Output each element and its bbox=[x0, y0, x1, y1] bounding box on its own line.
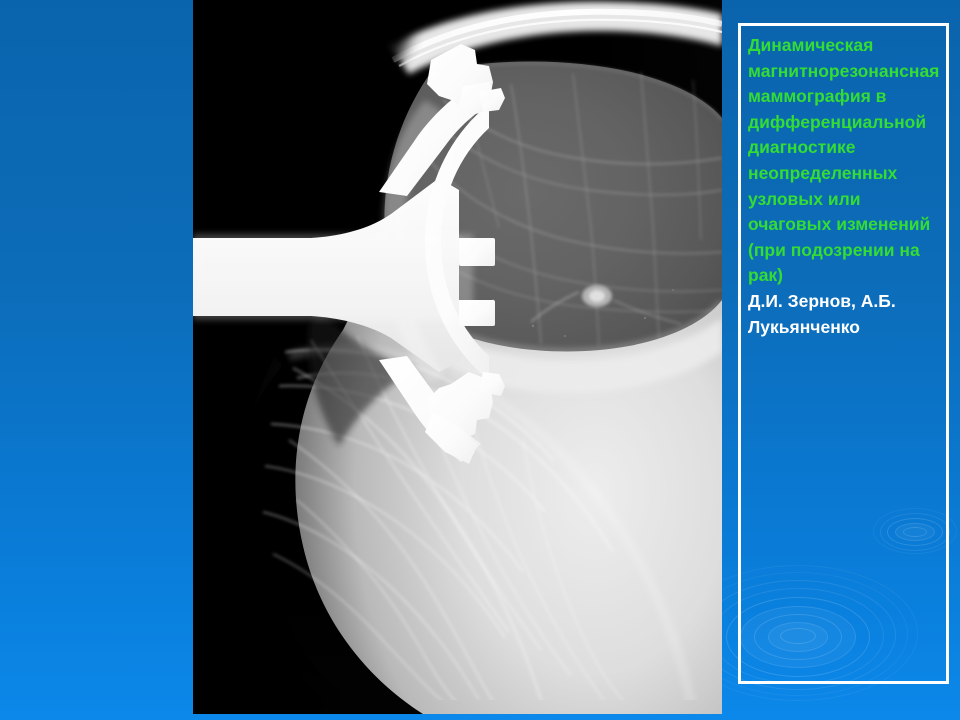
presentation-title: Динамическая магнитнорезонансная маммогр… bbox=[748, 33, 942, 289]
presentation-slide: Динамическая магнитнорезонансная маммогр… bbox=[0, 0, 960, 720]
mammogram-image bbox=[193, 0, 722, 714]
title-text-box: Динамическая магнитнорезонансная маммогр… bbox=[738, 23, 949, 684]
presentation-authors: Д.И. Зернов, А.Б. Лукьянченко bbox=[748, 289, 942, 340]
